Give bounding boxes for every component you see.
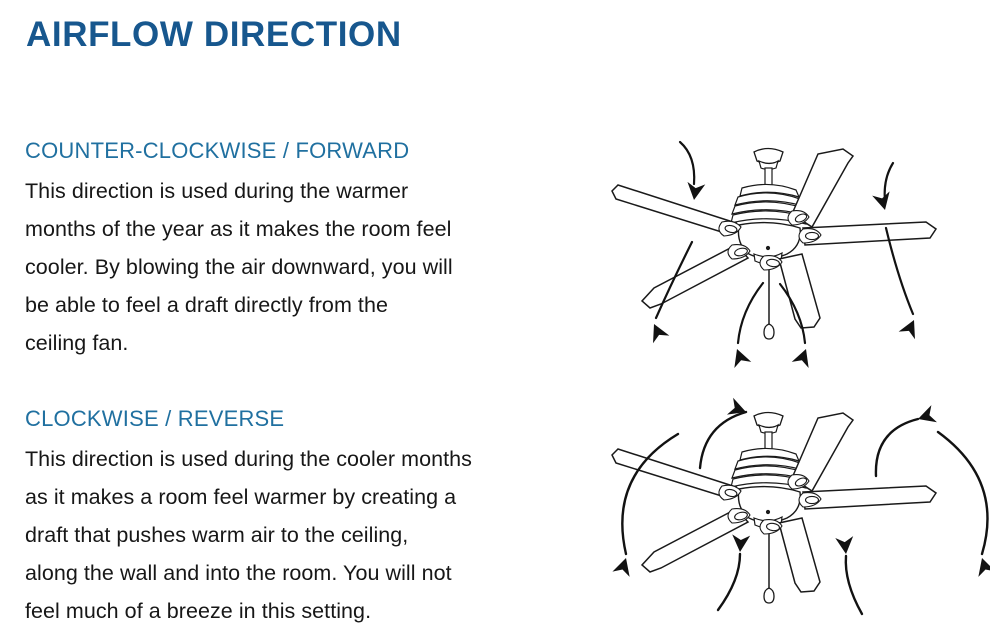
ceiling-fan-reverse-diagram bbox=[586, 392, 990, 640]
section-counter-clockwise-forward: COUNTER-CLOCKWISE / FORWARD This directi… bbox=[25, 136, 585, 362]
section-heading-reverse: CLOCKWISE / REVERSE bbox=[25, 404, 585, 434]
body-line: as it makes a room feel warmer by creati… bbox=[25, 478, 585, 516]
fan-reverse-svg bbox=[586, 392, 990, 640]
body-line: along the wall and into the room. You wi… bbox=[25, 554, 585, 592]
body-line: This direction is used during the warmer bbox=[25, 172, 585, 210]
body-line: months of the year as it makes the room … bbox=[25, 210, 585, 248]
section-body-reverse: This direction is used during the cooler… bbox=[25, 440, 585, 630]
body-line: be able to feel a draft directly from th… bbox=[25, 286, 585, 324]
body-line: feel much of a breeze in this setting. bbox=[25, 592, 585, 630]
fan-forward-svg bbox=[596, 128, 990, 372]
section-body-forward: This direction is used during the warmer… bbox=[25, 172, 585, 362]
body-line: draft that pushes warm air to the ceilin… bbox=[25, 516, 585, 554]
body-line: ceiling fan. bbox=[25, 324, 585, 362]
fan-body-illustration bbox=[612, 413, 936, 604]
ceiling-fan-forward-diagram bbox=[596, 128, 990, 372]
body-line: cooler. By blowing the air downward, you… bbox=[25, 248, 585, 286]
section-clockwise-reverse: CLOCKWISE / REVERSE This direction is us… bbox=[25, 404, 585, 630]
airflow-direction-page: AIRFLOW DIRECTION COUNTER-CLOCKWISE / FO… bbox=[0, 0, 990, 640]
body-line: This direction is used during the cooler… bbox=[25, 440, 585, 478]
page-title: AIRFLOW DIRECTION bbox=[26, 14, 402, 56]
section-heading-forward: COUNTER-CLOCKWISE / FORWARD bbox=[25, 136, 585, 166]
